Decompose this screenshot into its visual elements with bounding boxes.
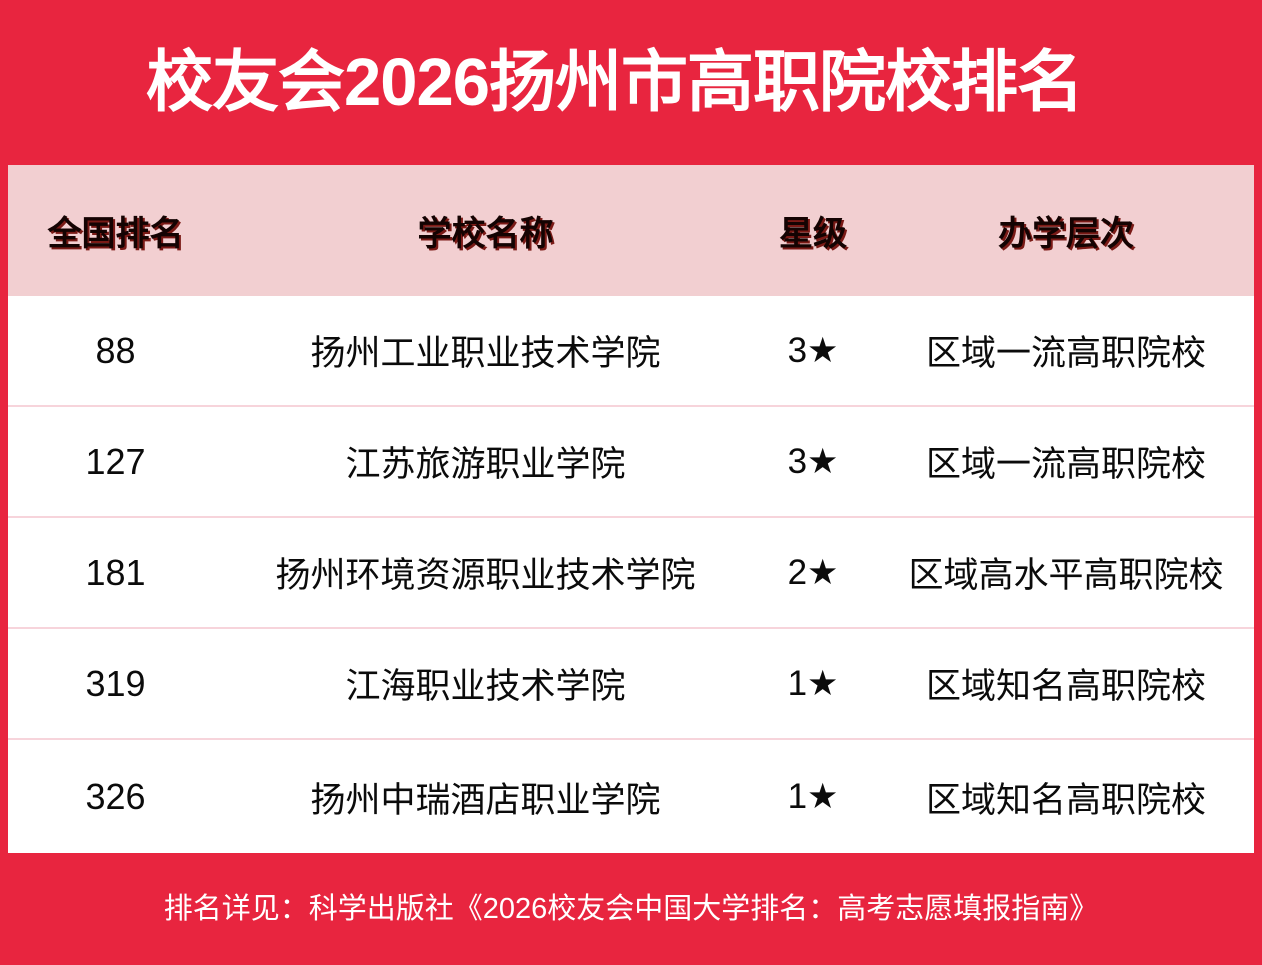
cell-level: 区域知名高职院校 bbox=[878, 658, 1254, 709]
table-row: 326 扬州中瑞酒店职业学院 1★ 区域知名高职院校 bbox=[8, 740, 1254, 853]
page-title: 校友会2026扬州市高职院校排名 bbox=[146, 49, 1083, 116]
cell-name: 扬州环境资源职业技术学院 bbox=[223, 547, 748, 598]
cell-name: 江海职业技术学院 bbox=[223, 658, 748, 709]
cell-name: 扬州工业职业技术学院 bbox=[223, 325, 748, 376]
cell-star: 3★ bbox=[748, 442, 878, 482]
footer-banner: 排名详见：科学出版社《2026校友会中国大学排名：高考志愿填报指南》 bbox=[0, 853, 1262, 965]
cell-star: 2★ bbox=[748, 553, 878, 593]
ranking-table: 全国排名 学校名称 星级 办学层次 88 扬州工业职业技术学院 3★ 区域一流高… bbox=[8, 165, 1254, 853]
cell-level: 区域一流高职院校 bbox=[878, 436, 1254, 487]
cell-name: 江苏旅游职业学院 bbox=[223, 436, 748, 487]
cell-rank: 319 bbox=[8, 663, 223, 705]
footer-note: 排名详见：科学出版社《2026校友会中国大学排名：高考志愿填报指南》 bbox=[164, 885, 1099, 933]
ranking-poster: 校友会2026扬州市高职院校排名 全国排名 学校名称 星级 办学层次 88 扬州… bbox=[0, 0, 1262, 965]
cell-star: 3★ bbox=[748, 331, 878, 371]
title-banner: 校友会2026扬州市高职院校排名 bbox=[0, 0, 1262, 165]
cell-rank: 181 bbox=[8, 552, 223, 594]
cell-rank: 88 bbox=[8, 330, 223, 372]
column-header-level: 办学层次 bbox=[878, 206, 1254, 255]
cell-star: 1★ bbox=[748, 777, 878, 817]
table-row: 88 扬州工业职业技术学院 3★ 区域一流高职院校 bbox=[8, 296, 1254, 407]
cell-rank: 326 bbox=[8, 776, 223, 818]
column-header-name: 学校名称 bbox=[223, 206, 748, 255]
cell-level: 区域高水平高职院校 bbox=[878, 547, 1254, 598]
table-body: 88 扬州工业职业技术学院 3★ 区域一流高职院校 127 江苏旅游职业学院 3… bbox=[8, 296, 1254, 853]
cell-name: 扬州中瑞酒店职业学院 bbox=[223, 772, 748, 823]
column-header-star: 星级 bbox=[748, 206, 878, 255]
cell-level: 区域知名高职院校 bbox=[878, 772, 1254, 823]
cell-star: 1★ bbox=[748, 664, 878, 704]
cell-rank: 127 bbox=[8, 441, 223, 483]
table-row: 319 江海职业技术学院 1★ 区域知名高职院校 bbox=[8, 629, 1254, 740]
column-header-rank: 全国排名 bbox=[8, 206, 223, 255]
table-row: 181 扬州环境资源职业技术学院 2★ 区域高水平高职院校 bbox=[8, 518, 1254, 629]
cell-level: 区域一流高职院校 bbox=[878, 325, 1254, 376]
table-header-row: 全国排名 学校名称 星级 办学层次 bbox=[8, 165, 1254, 296]
table-row: 127 江苏旅游职业学院 3★ 区域一流高职院校 bbox=[8, 407, 1254, 518]
